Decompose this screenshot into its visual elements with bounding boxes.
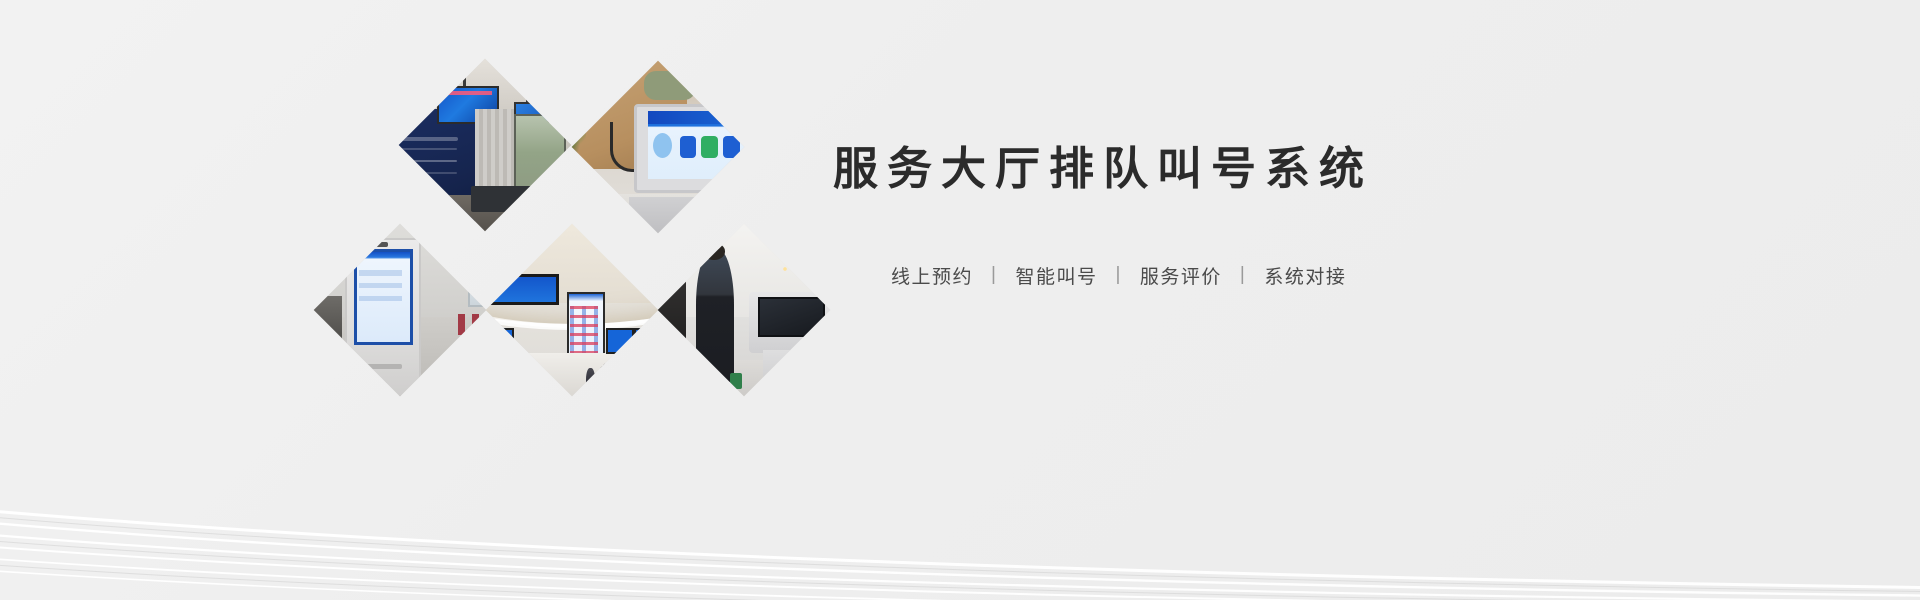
gallery-tile-4[interactable] [486,224,659,397]
feature-separator-1: | [989,264,999,286]
gallery-tile-3-image [314,224,487,397]
gallery-tile-2-image [572,61,745,234]
gallery-tile-1[interactable] [399,59,572,232]
feature-list: 线上预约 | 智能叫号 | 服务评价 | 系统对接 [875,262,1362,289]
feature-separator-3: | [1238,264,1248,286]
gallery-tile-1-image [399,59,572,232]
hero-text-block: 服务大厅排队叫号系统 线上预约 | 智能叫号 | 服务评价 | 系统对接 [833,140,1733,199]
hero-banner: 服务大厅排队叫号系统 线上预约 | 智能叫号 | 服务评价 | 系统对接 [0,0,1920,600]
gallery-tile-3[interactable] [314,224,487,397]
feature-item-2: 智能叫号 [999,262,1113,289]
feature-item-4: 系统对接 [1248,262,1362,289]
gallery-tile-4-image [486,224,659,397]
feature-item-1: 线上预约 [875,262,989,289]
swoosh-decoration [0,380,1920,600]
gallery-tile-5-image [658,224,831,397]
diamond-photo-gallery [300,48,860,408]
feature-separator-2: | [1113,264,1123,286]
gallery-tile-2[interactable] [572,61,745,234]
feature-item-3: 服务评价 [1124,262,1238,289]
gallery-tile-5[interactable] [658,224,831,397]
page-title: 服务大厅排队叫号系统 [833,140,1733,199]
